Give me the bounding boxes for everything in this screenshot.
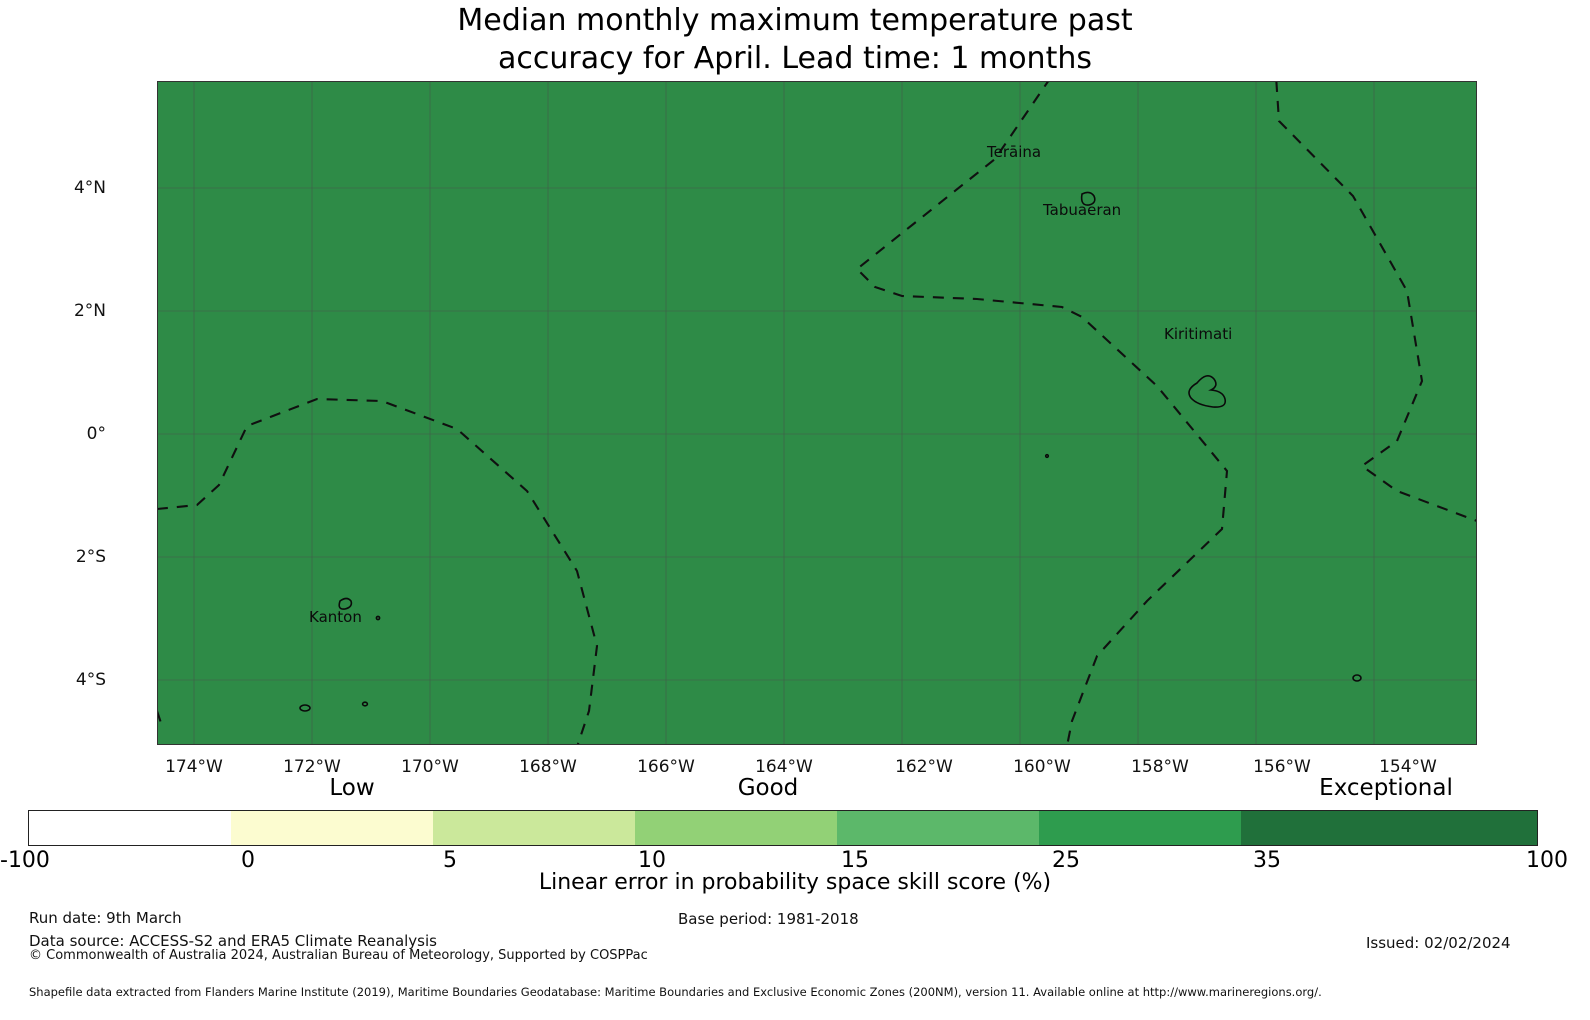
y-tick-label-0: 0° (46, 424, 106, 444)
x-tick-label-174w: 174°W (134, 757, 254, 777)
colorbar-axis-label: Linear error in probability space skill … (0, 870, 1590, 895)
x-tick-label-160w: 160°W (982, 757, 1102, 777)
y-tick-label-4n: 4°N (46, 178, 106, 198)
colorbar[interactable] (28, 810, 1538, 846)
footer-run-date: Run date: 9th March (29, 909, 182, 927)
colorbar-category-exceptional: Exceptional (1236, 775, 1536, 801)
title-line-1: Median monthly maximum temperature past (0, 2, 1590, 40)
colorbar-segment-4 (635, 811, 837, 845)
colorbar-category-good: Good (618, 775, 918, 801)
x-tick-label-168w: 168°W (488, 757, 608, 777)
y-tick-label-2n: 2°N (46, 301, 106, 321)
footer-base-period: Base period: 1981-2018 (678, 910, 859, 928)
title-line-2: accuracy for April. Lead time: 1 months (0, 40, 1590, 78)
footer-shapefile-attribution: Shapefile data extracted from Flanders M… (29, 985, 1322, 999)
colorbar-segment-3 (433, 811, 635, 845)
y-tick-label-4s: 4°S (46, 670, 106, 690)
footer-copyright: © Commonwealth of Australia 2024, Austra… (29, 948, 648, 963)
x-tick-label-154w: 154°W (1348, 757, 1468, 777)
x-tick-label-170w: 170°W (370, 757, 490, 777)
x-tick-label-166w: 166°W (606, 757, 726, 777)
y-tick-label-2s: 2°S (46, 547, 106, 567)
colorbar-segment-6 (1039, 811, 1241, 845)
x-tick-label-158w: 158°W (1100, 757, 1220, 777)
map-frame (157, 81, 1477, 745)
skill-score-map[interactable]: Terāina Tabuaeran Kiritimati Kanton (157, 81, 1477, 745)
colorbar-segment-2 (231, 811, 433, 845)
x-tick-label-172w: 172°W (252, 757, 372, 777)
colorbar-segment-5 (837, 811, 1039, 845)
footer-issued: Issued: 02/02/2024 (1366, 934, 1511, 952)
x-tick-label-164w: 164°W (724, 757, 844, 777)
colorbar-category-low: Low (202, 775, 502, 801)
x-tick-label-162w: 162°W (864, 757, 984, 777)
x-tick-label-156w: 156°W (1222, 757, 1342, 777)
colorbar-segment-1 (29, 811, 231, 845)
page-title: Median monthly maximum temperature past … (0, 2, 1590, 78)
colorbar-segment-7 (1241, 811, 1537, 845)
